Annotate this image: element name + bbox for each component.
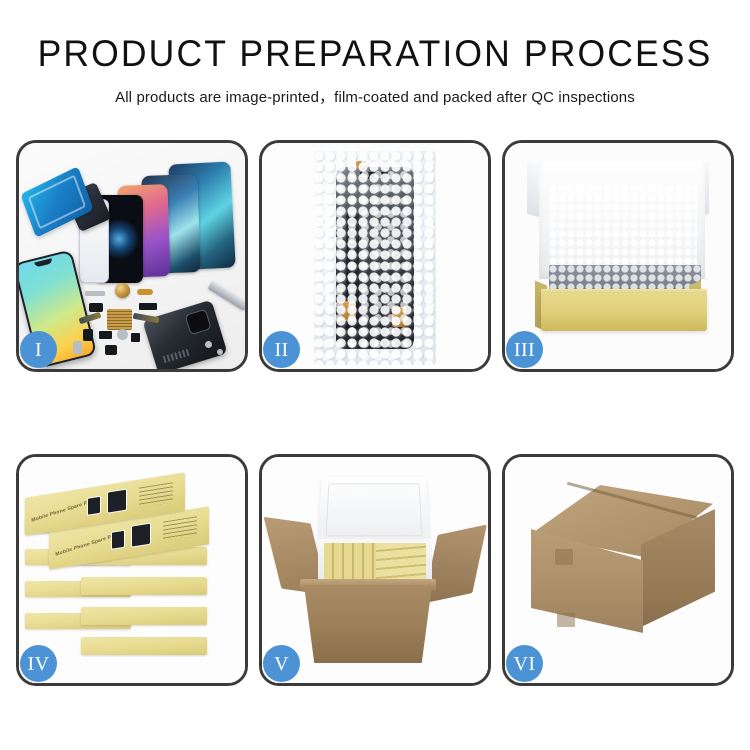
step-1-image: [19, 143, 245, 369]
process-step-4[interactable]: Mobile Phone Spare Parts Mobile Phone Sp…: [16, 454, 248, 686]
process-step-1[interactable]: I: [16, 140, 248, 372]
step-5-image: [262, 457, 488, 683]
part-screw-1: [205, 341, 212, 348]
bubble-wrap-bag: [314, 151, 436, 365]
process-step-2[interactable]: II: [259, 140, 491, 372]
step-6-image: [505, 457, 731, 683]
part-screw-2: [217, 349, 223, 355]
part-chip-3: [99, 331, 112, 339]
part-home-button: [117, 329, 128, 340]
part-speaker-coil: [115, 283, 130, 298]
part-vibrator: [105, 345, 117, 355]
step-2-image: [262, 143, 488, 369]
step-4-image: Mobile Phone Spare Parts Mobile Phone Sp…: [19, 457, 245, 683]
page-title: PRODUCT PREPARATION PROCESS: [15, 34, 735, 74]
carton-body: [304, 585, 432, 663]
header: PRODUCT PREPARATION PROCESS All products…: [0, 0, 750, 107]
page-subtitle: All products are image-printed，film-coat…: [6, 85, 745, 107]
step-badge-6: VI: [506, 645, 543, 682]
box-art-chip-2b: [131, 523, 151, 548]
box-art-chip-1a: [87, 496, 101, 516]
step-badge-2: II: [263, 331, 300, 368]
foam-liner: [549, 185, 697, 269]
part-chip-4: [131, 333, 140, 342]
bubble-texture-overlay: [314, 151, 436, 365]
styrofoam-lid: [318, 477, 430, 544]
part-chip-2: [139, 303, 157, 310]
carton-tape-lower: [557, 613, 575, 627]
box-art-chip-2a: [111, 530, 125, 550]
part-copper-mesh: [107, 309, 132, 330]
part-camera-module: [83, 329, 93, 341]
process-step-6[interactable]: VI: [502, 454, 734, 686]
part-chip-1: [89, 303, 103, 312]
step-3-image: [505, 143, 731, 369]
process-grid: I II: [16, 140, 734, 686]
step-badge-3: III: [506, 331, 543, 368]
step-badge-1: I: [20, 331, 57, 368]
part-bracket-1: [85, 291, 105, 296]
box-front-yellow: [541, 293, 707, 331]
box-art-text-1: [139, 482, 173, 507]
step-badge-5: V: [263, 645, 300, 682]
part-back-housing: [142, 300, 227, 369]
process-step-5[interactable]: V: [259, 454, 491, 686]
part-connector-gold: [137, 289, 153, 295]
stacked-box-r4: [81, 637, 207, 655]
stacked-box-r2: [81, 577, 207, 595]
process-step-3[interactable]: III: [502, 140, 734, 372]
part-sim-tray: [73, 341, 82, 354]
step-badge-4: IV: [20, 645, 57, 682]
box-art-chip-1b: [107, 489, 127, 514]
carton-tape-upper: [555, 549, 573, 565]
stacked-box-r3: [81, 607, 207, 625]
page-root: PRODUCT PREPARATION PROCESS All products…: [0, 0, 750, 750]
box-art-text-2: [163, 516, 197, 541]
